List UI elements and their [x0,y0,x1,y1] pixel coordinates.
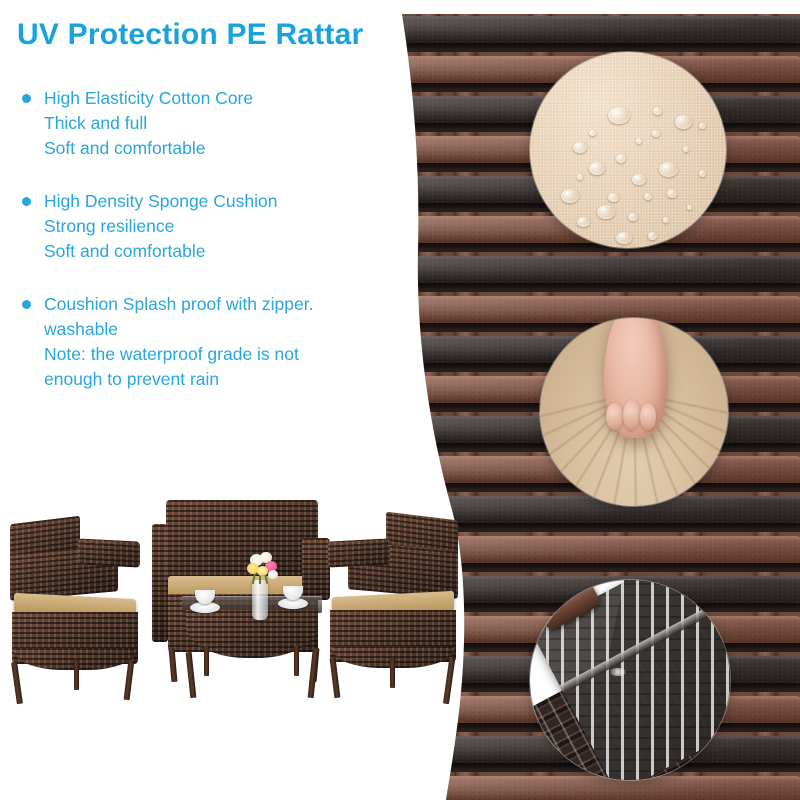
coffee-table-leg-back-left [204,646,209,676]
water-droplet [628,213,638,221]
water-droplet [577,217,590,227]
water-droplet [577,174,583,180]
bullet-dot-icon [22,300,31,309]
feature-bullet: High Density Sponge CushionStrong resili… [18,189,390,264]
feature-bullet-line: enough to prevent rain [44,367,390,392]
feature-bullet: Coushion Splash proof with zipper.washab… [18,292,390,392]
water-droplet [644,193,652,200]
feature-bullet-line: Coushion Splash proof with zipper. [44,292,390,317]
feature-bullet-line: High Density Sponge Cushion [44,189,390,214]
product-infographic: UV Protection PE Rattar High Elasticity … [0,0,800,800]
armchair-right [324,508,464,705]
bullet-dot-icon [22,94,31,103]
armchair-right-leg-front-left [330,658,341,698]
4-piece-rattan-conversation-set [4,490,454,705]
loveseat-leg-left [169,648,178,682]
glass-table-corner [530,580,730,780]
feature-bullet-line: washable [44,317,390,342]
glass-reflection [610,668,626,676]
sponge-cushion-surface [540,318,728,506]
armchair-left-leg-front-left [11,662,23,704]
armchair-left-armrest [78,538,140,567]
armchair-right-leg-front-right [443,660,455,704]
water-droplet [589,162,605,175]
feature-bullet-line: Note: the waterproof grade is not [44,342,390,367]
water-droplet [683,146,689,152]
feature-bullet-line: Soft and comfortable [44,136,390,161]
coffee-table-leg-back-right [294,646,299,676]
water-droplet [597,205,615,219]
water-droplet [663,217,669,223]
water-droplet [648,232,657,240]
coffee-table-leg-front-left [186,652,197,698]
feature-bullet: High Elasticity Cotton CoreThick and ful… [18,86,390,161]
flower-vase-arrangement [238,552,284,624]
water-beading-detail [530,52,726,248]
armchair-left-leg-front-right [124,660,135,700]
glass-vase [252,580,268,620]
hand-fist [604,318,668,438]
armchair-right-armrest [328,538,390,567]
water-droplet [632,174,646,185]
water-droplet [659,162,678,177]
water-droplet [699,170,706,177]
water-droplet [675,115,692,129]
feature-bullet-line: Thick and full [44,111,390,136]
feature-bullet-line: High Elasticity Cotton Core [44,86,390,111]
feature-bullet-line: Soft and comfortable [44,239,390,264]
flower-yellow-2 [257,566,268,576]
water-droplet [699,123,706,129]
page-title: UV Protection PE Rattar [17,18,363,52]
cushion-press-detail [540,318,728,506]
armchair-right-leg-back [390,658,395,688]
feature-bullet-line: Strong resilience [44,214,390,239]
water-droplet [687,205,692,210]
water-droplet [652,130,660,137]
feature-bullet-list: High Elasticity Cotton CoreThick and ful… [18,86,390,420]
flower-white-2 [268,570,278,579]
coffee-table-leg-front-right [308,652,319,698]
armchair-left-leg-back [74,660,79,690]
glass-tabletop-detail [530,580,730,780]
armchair-left [4,510,144,705]
bullet-dot-icon [22,197,31,206]
